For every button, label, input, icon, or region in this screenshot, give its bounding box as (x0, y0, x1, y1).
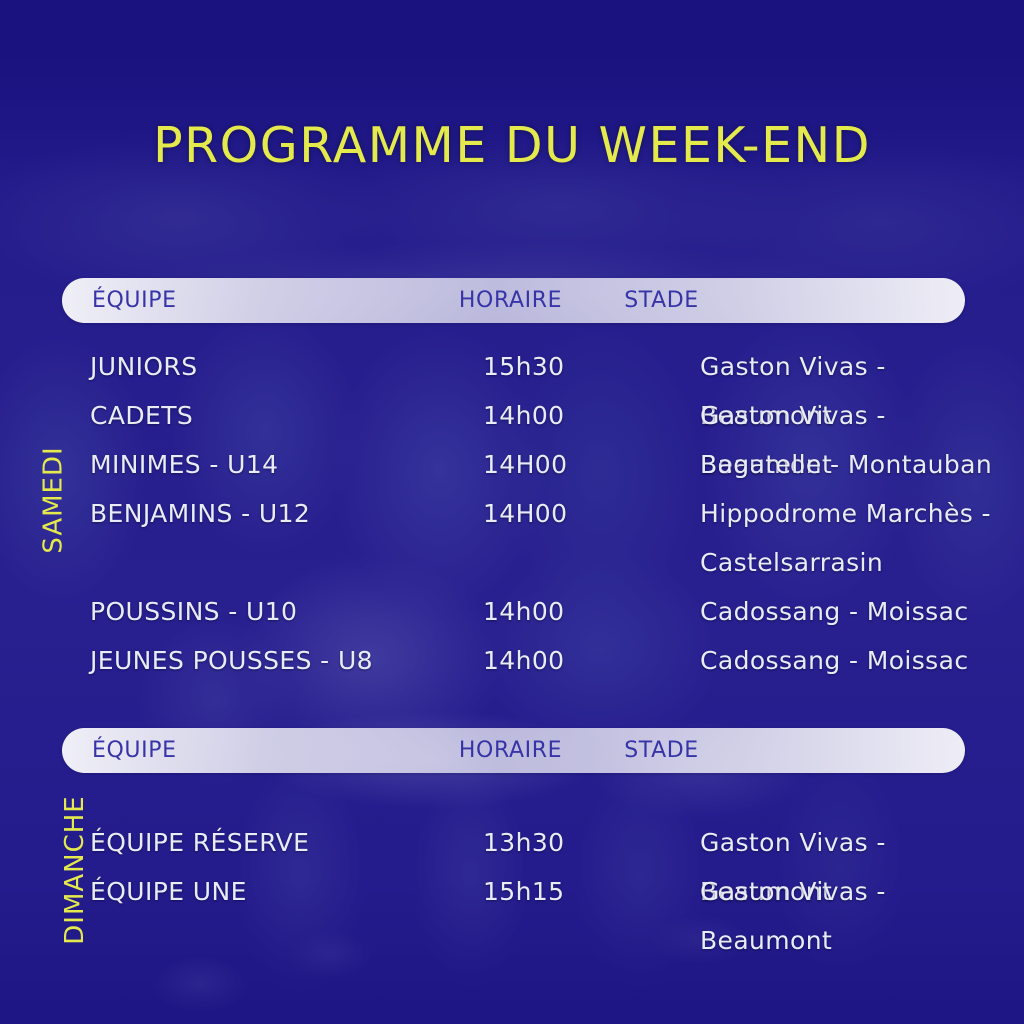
weekend-schedule-poster: PROGRAMME DU WEEK-END SAMEDI DIMANCHE ÉQ… (0, 0, 1024, 1024)
section-dimanche: ÉQUIPE HORAIRE STADE (0, 728, 1024, 773)
row-venue: Gaston Vivas - Beaumont (700, 867, 1015, 965)
row-time: 15h30 (483, 342, 673, 391)
row-venue: Bagatelle - Montauban (700, 440, 1015, 489)
row-time: 14H00 (483, 440, 673, 489)
row-time: 14h00 (483, 587, 673, 636)
row-team-name: JUNIORS (90, 342, 470, 391)
table-row: MINIMES - U1414H00Bagatelle - Montauban (0, 440, 1024, 489)
row-time: 14h00 (483, 391, 673, 440)
row-time: 13h30 (483, 818, 673, 867)
table-row: BENJAMINS - U1214H00Hippodrome Marchès -… (0, 489, 1024, 587)
row-team-name: MINIMES - U14 (90, 440, 470, 489)
row-team-name: ÉQUIPE UNE (90, 867, 470, 916)
table-row: JUNIORS15h30Gaston Vivas - Beaumont (0, 342, 1024, 391)
row-team-name: BENJAMINS - U12 (90, 489, 470, 538)
row-team-name: CADETS (90, 391, 470, 440)
table-header-samedi: ÉQUIPE HORAIRE STADE (62, 278, 965, 323)
row-time: 14H00 (483, 489, 673, 538)
table-row: ÉQUIPE RÉSERVE13h30Gaston Vivas - Beaumo… (0, 818, 1024, 867)
table-row: ÉQUIPE UNE15h15Gaston Vivas - Beaumont (0, 867, 1024, 916)
row-venue: Hippodrome Marchès - Castelsarrasin (700, 489, 1015, 587)
schedule-rows-samedi: JUNIORS15h30Gaston Vivas - BeaumontCADET… (0, 342, 1024, 685)
page-title: PROGRAMME DU WEEK-END (0, 117, 1024, 174)
row-time: 14h00 (483, 636, 673, 685)
row-venue: Cadossang - Moissac (700, 587, 1015, 636)
column-header-venue: STADE (358, 278, 965, 323)
table-row: CADETS14h00Gaston Vivas - Beaumont (0, 391, 1024, 440)
section-samedi: ÉQUIPE HORAIRE STADE (0, 278, 1024, 323)
column-header-venue: STADE (358, 728, 965, 773)
table-row: JEUNES POUSSES - U814h00Cadossang - Mois… (0, 636, 1024, 685)
row-venue: Cadossang - Moissac (700, 636, 1015, 685)
row-team-name: POUSSINS - U10 (90, 587, 470, 636)
row-team-name: ÉQUIPE RÉSERVE (90, 818, 470, 867)
row-time: 15h15 (483, 867, 673, 916)
table-row: POUSSINS - U1014h00Cadossang - Moissac (0, 587, 1024, 636)
row-team-name: JEUNES POUSSES - U8 (90, 636, 470, 685)
schedule-rows-dimanche: ÉQUIPE RÉSERVE13h30Gaston Vivas - Beaumo… (0, 818, 1024, 916)
table-header-dimanche: ÉQUIPE HORAIRE STADE (62, 728, 965, 773)
